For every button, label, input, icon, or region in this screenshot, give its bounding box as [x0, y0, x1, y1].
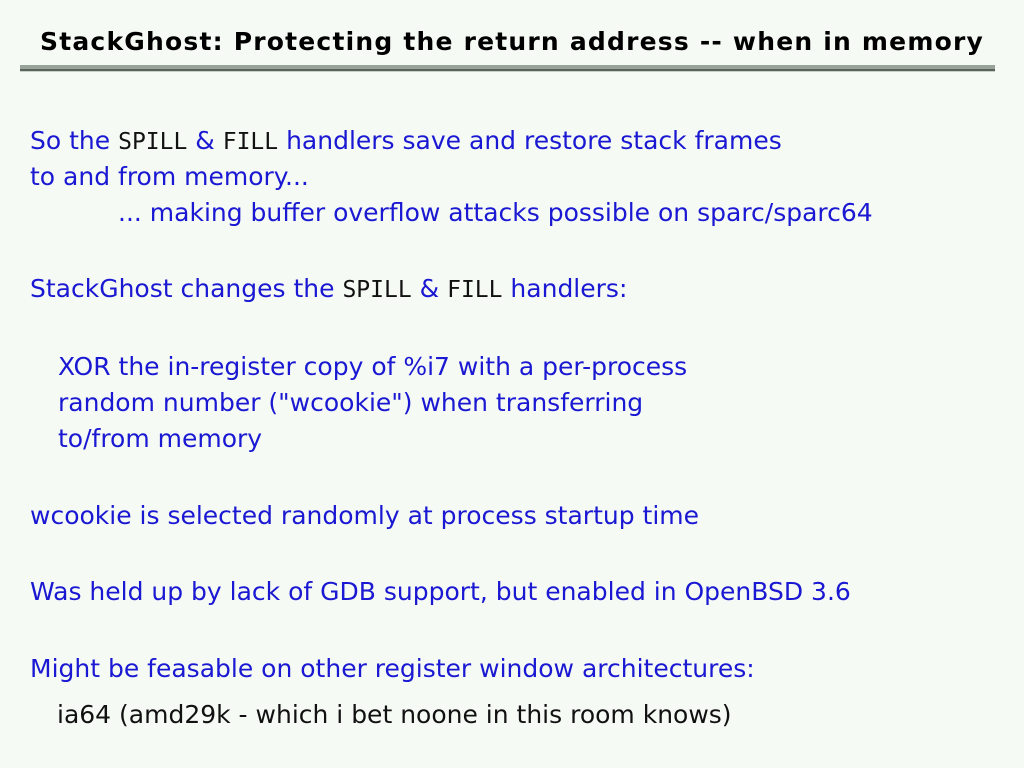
line1-trail-text: handlers save and restore stack frames [278, 126, 782, 155]
line4-trail-text: handlers: [502, 274, 627, 303]
body-line-10: Might be feasable on other register wind… [30, 654, 755, 684]
body-line-9: Was held up by lack of GDB support, but … [30, 577, 851, 607]
body-line-7-indented: to/from memory [58, 424, 262, 454]
line1-ampersand: & [187, 126, 222, 155]
body-line-1: So the SPILL & FILL handlers save and re… [30, 126, 782, 157]
keyword-spill-2: SPILL [342, 277, 411, 303]
body-line-4: StackGhost changes the SPILL & FILL hand… [30, 274, 627, 305]
slide-body: So the SPILL & FILL handlers save and re… [0, 0, 1024, 768]
keyword-spill: SPILL [118, 129, 187, 155]
keyword-fill: FILL [223, 129, 278, 155]
line1-lead-text: So the [30, 126, 118, 155]
body-line-6-indented: random number ("wcookie") when transferr… [58, 388, 643, 418]
body-line-5-indented: XOR the in-register copy of %i7 with a p… [58, 352, 687, 382]
keyword-fill-2: FILL [447, 277, 502, 303]
line4-ampersand: & [412, 274, 447, 303]
presentation-slide: StackGhost: Protecting the return addres… [0, 0, 1024, 768]
line4-lead-text: StackGhost changes the [30, 274, 342, 303]
body-line-3-indented: ... making buffer overflow attacks possi… [118, 198, 873, 228]
body-line-11-indented: ia64 (amd29k - which i bet noone in this… [57, 700, 732, 730]
body-line-2: to and from memory... [30, 162, 309, 192]
body-line-8: wcookie is selected randomly at process … [30, 501, 699, 531]
